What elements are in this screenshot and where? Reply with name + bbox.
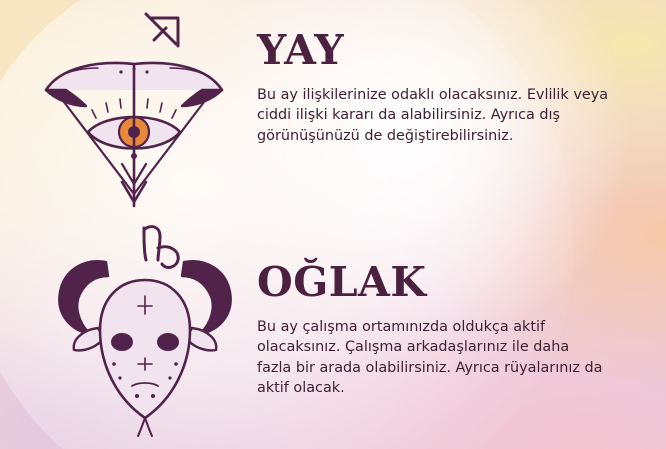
sagittarius-description: Bu ay ilişkilerinize odaklı olacaksınız.… xyxy=(257,85,619,146)
sagittarius-title: YAY xyxy=(257,30,647,71)
sagittarius-bow-and-eye-illustration xyxy=(26,6,242,212)
capricorn-goat-head-illustration xyxy=(34,218,244,438)
sagittarius-text-block: YAY Bu ay ilişkilerinize odaklı olacaksı… xyxy=(257,30,647,146)
capricorn-title: OĞLAK xyxy=(257,262,647,303)
capricorn-description: Bu ay çalışma ortamınızda oldukça aktif … xyxy=(257,317,607,399)
horoscope-card: YAY Bu ay ilişkilerinize odaklı olacaksı… xyxy=(0,0,666,449)
capricorn-text-block: OĞLAK Bu ay çalışma ortamınızda oldukça … xyxy=(257,262,647,399)
